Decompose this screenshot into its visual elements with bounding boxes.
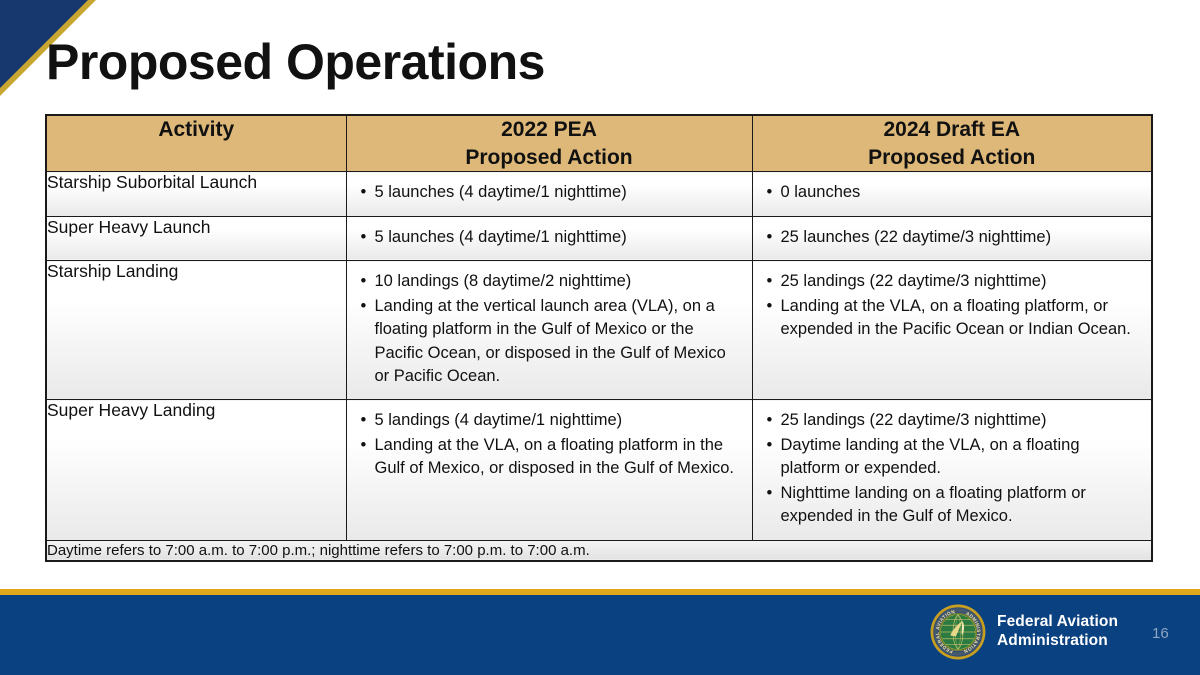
- table-row: Starship Landing •10 landings (8 daytime…: [46, 261, 1152, 400]
- ea-cell: •25 landings (22 daytime/3 nighttime) •L…: [752, 261, 1152, 400]
- faa-logo-lockup: FEDERAL AVIATION ADMINISTRATION Federal …: [930, 604, 1118, 660]
- activity-cell: Starship Landing: [46, 261, 346, 400]
- bullet-icon: •: [767, 181, 773, 204]
- bullet-list: •25 landings (22 daytime/3 nighttime) •D…: [753, 400, 1152, 539]
- ea-cell: •25 launches (22 daytime/3 nighttime): [752, 216, 1152, 260]
- list-item: •Daytime landing at the VLA, on a floati…: [765, 434, 1142, 481]
- bullet-icon: •: [361, 181, 367, 204]
- bullet-icon: •: [361, 226, 367, 249]
- header-line-1: 2022 PEA: [501, 118, 597, 141]
- pea-cell: •5 landings (4 daytime/1 nighttime) •Lan…: [346, 400, 752, 540]
- table-body: Starship Suborbital Launch •5 launches (…: [46, 172, 1152, 561]
- agency-line-2: Administration: [997, 632, 1118, 651]
- list-item-text: Landing at the VLA, on a floating platfo…: [781, 297, 1131, 338]
- table-row: Super Heavy Launch •5 launches (4 daytim…: [46, 216, 1152, 260]
- list-item: •Landing at the vertical launch area (VL…: [359, 295, 742, 389]
- faa-agency-name: Federal Aviation Administration: [997, 613, 1118, 651]
- list-item: •0 launches: [765, 181, 1142, 204]
- list-item: •5 launches (4 daytime/1 nighttime): [359, 181, 742, 204]
- bullet-list: •5 landings (4 daytime/1 nighttime) •Lan…: [347, 400, 752, 491]
- column-header-2022-pea: 2022 PEA Proposed Action: [346, 115, 752, 172]
- bullet-list: •0 launches: [753, 172, 1152, 215]
- list-item-text: 0 launches: [781, 183, 861, 201]
- list-item-text: 5 landings (4 daytime/1 nighttime): [375, 411, 623, 429]
- list-item: •25 landings (22 daytime/3 nighttime): [765, 409, 1142, 432]
- header-line-1: 2024 Draft EA: [883, 118, 1020, 141]
- table-row: Starship Suborbital Launch •5 launches (…: [46, 172, 1152, 216]
- bullet-icon: •: [767, 295, 773, 318]
- table-footnote-row: Daytime refers to 7:00 a.m. to 7:00 p.m.…: [46, 540, 1152, 561]
- list-item-text: 25 landings (22 daytime/3 nighttime): [781, 411, 1047, 429]
- bullet-icon: •: [767, 270, 773, 293]
- list-item-text: Landing at the vertical launch area (VLA…: [375, 297, 726, 385]
- bullet-list: •10 landings (8 daytime/2 nighttime) •La…: [347, 261, 752, 399]
- header-line-2: Proposed Action: [465, 146, 632, 169]
- bullet-icon: •: [767, 226, 773, 249]
- header-row: Activity 2022 PEA Proposed Action 2024 D…: [46, 115, 1152, 172]
- page-title: Proposed Operations: [46, 36, 545, 89]
- bullet-list: •25 landings (22 daytime/3 nighttime) •L…: [753, 261, 1152, 352]
- bullet-icon: •: [361, 270, 367, 293]
- slide: Proposed Operations Activity 2022 PEA Pr…: [0, 0, 1200, 675]
- header-line-2: Proposed Action: [868, 146, 1035, 169]
- table-footnote: Daytime refers to 7:00 a.m. to 7:00 p.m.…: [46, 540, 1152, 561]
- table-header: Activity 2022 PEA Proposed Action 2024 D…: [46, 115, 1152, 172]
- ea-cell: •25 landings (22 daytime/3 nighttime) •D…: [752, 400, 1152, 540]
- agency-line-1: Federal Aviation: [997, 613, 1118, 632]
- list-item: •25 landings (22 daytime/3 nighttime): [765, 270, 1142, 293]
- list-item-text: 25 launches (22 daytime/3 nighttime): [781, 228, 1052, 246]
- column-header-2024-draft-ea: 2024 Draft EA Proposed Action: [752, 115, 1152, 172]
- pea-cell: •10 landings (8 daytime/2 nighttime) •La…: [346, 261, 752, 400]
- list-item: •Landing at the VLA, on a floating platf…: [359, 434, 742, 481]
- slide-number: 16: [1152, 625, 1169, 642]
- bullet-icon: •: [767, 434, 773, 457]
- header-line-1: Activity: [158, 118, 234, 141]
- activity-cell: Super Heavy Landing: [46, 400, 346, 540]
- activity-cell: Starship Suborbital Launch: [46, 172, 346, 216]
- bullet-icon: •: [361, 295, 367, 318]
- list-item-text: 10 landings (8 daytime/2 nighttime): [375, 272, 632, 290]
- ea-cell: •0 launches: [752, 172, 1152, 216]
- list-item: •10 landings (8 daytime/2 nighttime): [359, 270, 742, 293]
- bullet-list: •5 launches (4 daytime/1 nighttime): [347, 172, 752, 215]
- list-item-text: Nighttime landing on a floating platform…: [781, 484, 1086, 525]
- bullet-icon: •: [361, 409, 367, 432]
- list-item-text: 5 launches (4 daytime/1 nighttime): [375, 228, 627, 246]
- list-item: •5 landings (4 daytime/1 nighttime): [359, 409, 742, 432]
- list-item: •Landing at the VLA, on a floating platf…: [765, 295, 1142, 342]
- bullet-icon: •: [767, 409, 773, 432]
- activity-cell: Super Heavy Launch: [46, 216, 346, 260]
- list-item: •25 launches (22 daytime/3 nighttime): [765, 226, 1142, 249]
- list-item: •5 launches (4 daytime/1 nighttime): [359, 226, 742, 249]
- table-row: Super Heavy Landing •5 landings (4 dayti…: [46, 400, 1152, 540]
- pea-cell: •5 launches (4 daytime/1 nighttime): [346, 216, 752, 260]
- pea-cell: •5 launches (4 daytime/1 nighttime): [346, 172, 752, 216]
- faa-seal-icon: FEDERAL AVIATION ADMINISTRATION: [930, 604, 986, 660]
- bullet-icon: •: [361, 434, 367, 457]
- bullet-list: •5 launches (4 daytime/1 nighttime): [347, 217, 752, 260]
- bullet-list: •25 launches (22 daytime/3 nighttime): [753, 217, 1152, 260]
- list-item-text: 5 launches (4 daytime/1 nighttime): [375, 183, 627, 201]
- bullet-icon: •: [767, 482, 773, 505]
- list-item-text: Landing at the VLA, on a floating platfo…: [375, 436, 735, 477]
- list-item: •Nighttime landing on a floating platfor…: [765, 482, 1142, 529]
- column-header-activity: Activity: [46, 115, 346, 172]
- proposed-operations-table: Activity 2022 PEA Proposed Action 2024 D…: [45, 114, 1153, 562]
- list-item-text: Daytime landing at the VLA, on a floatin…: [781, 436, 1080, 477]
- list-item-text: 25 landings (22 daytime/3 nighttime): [781, 272, 1047, 290]
